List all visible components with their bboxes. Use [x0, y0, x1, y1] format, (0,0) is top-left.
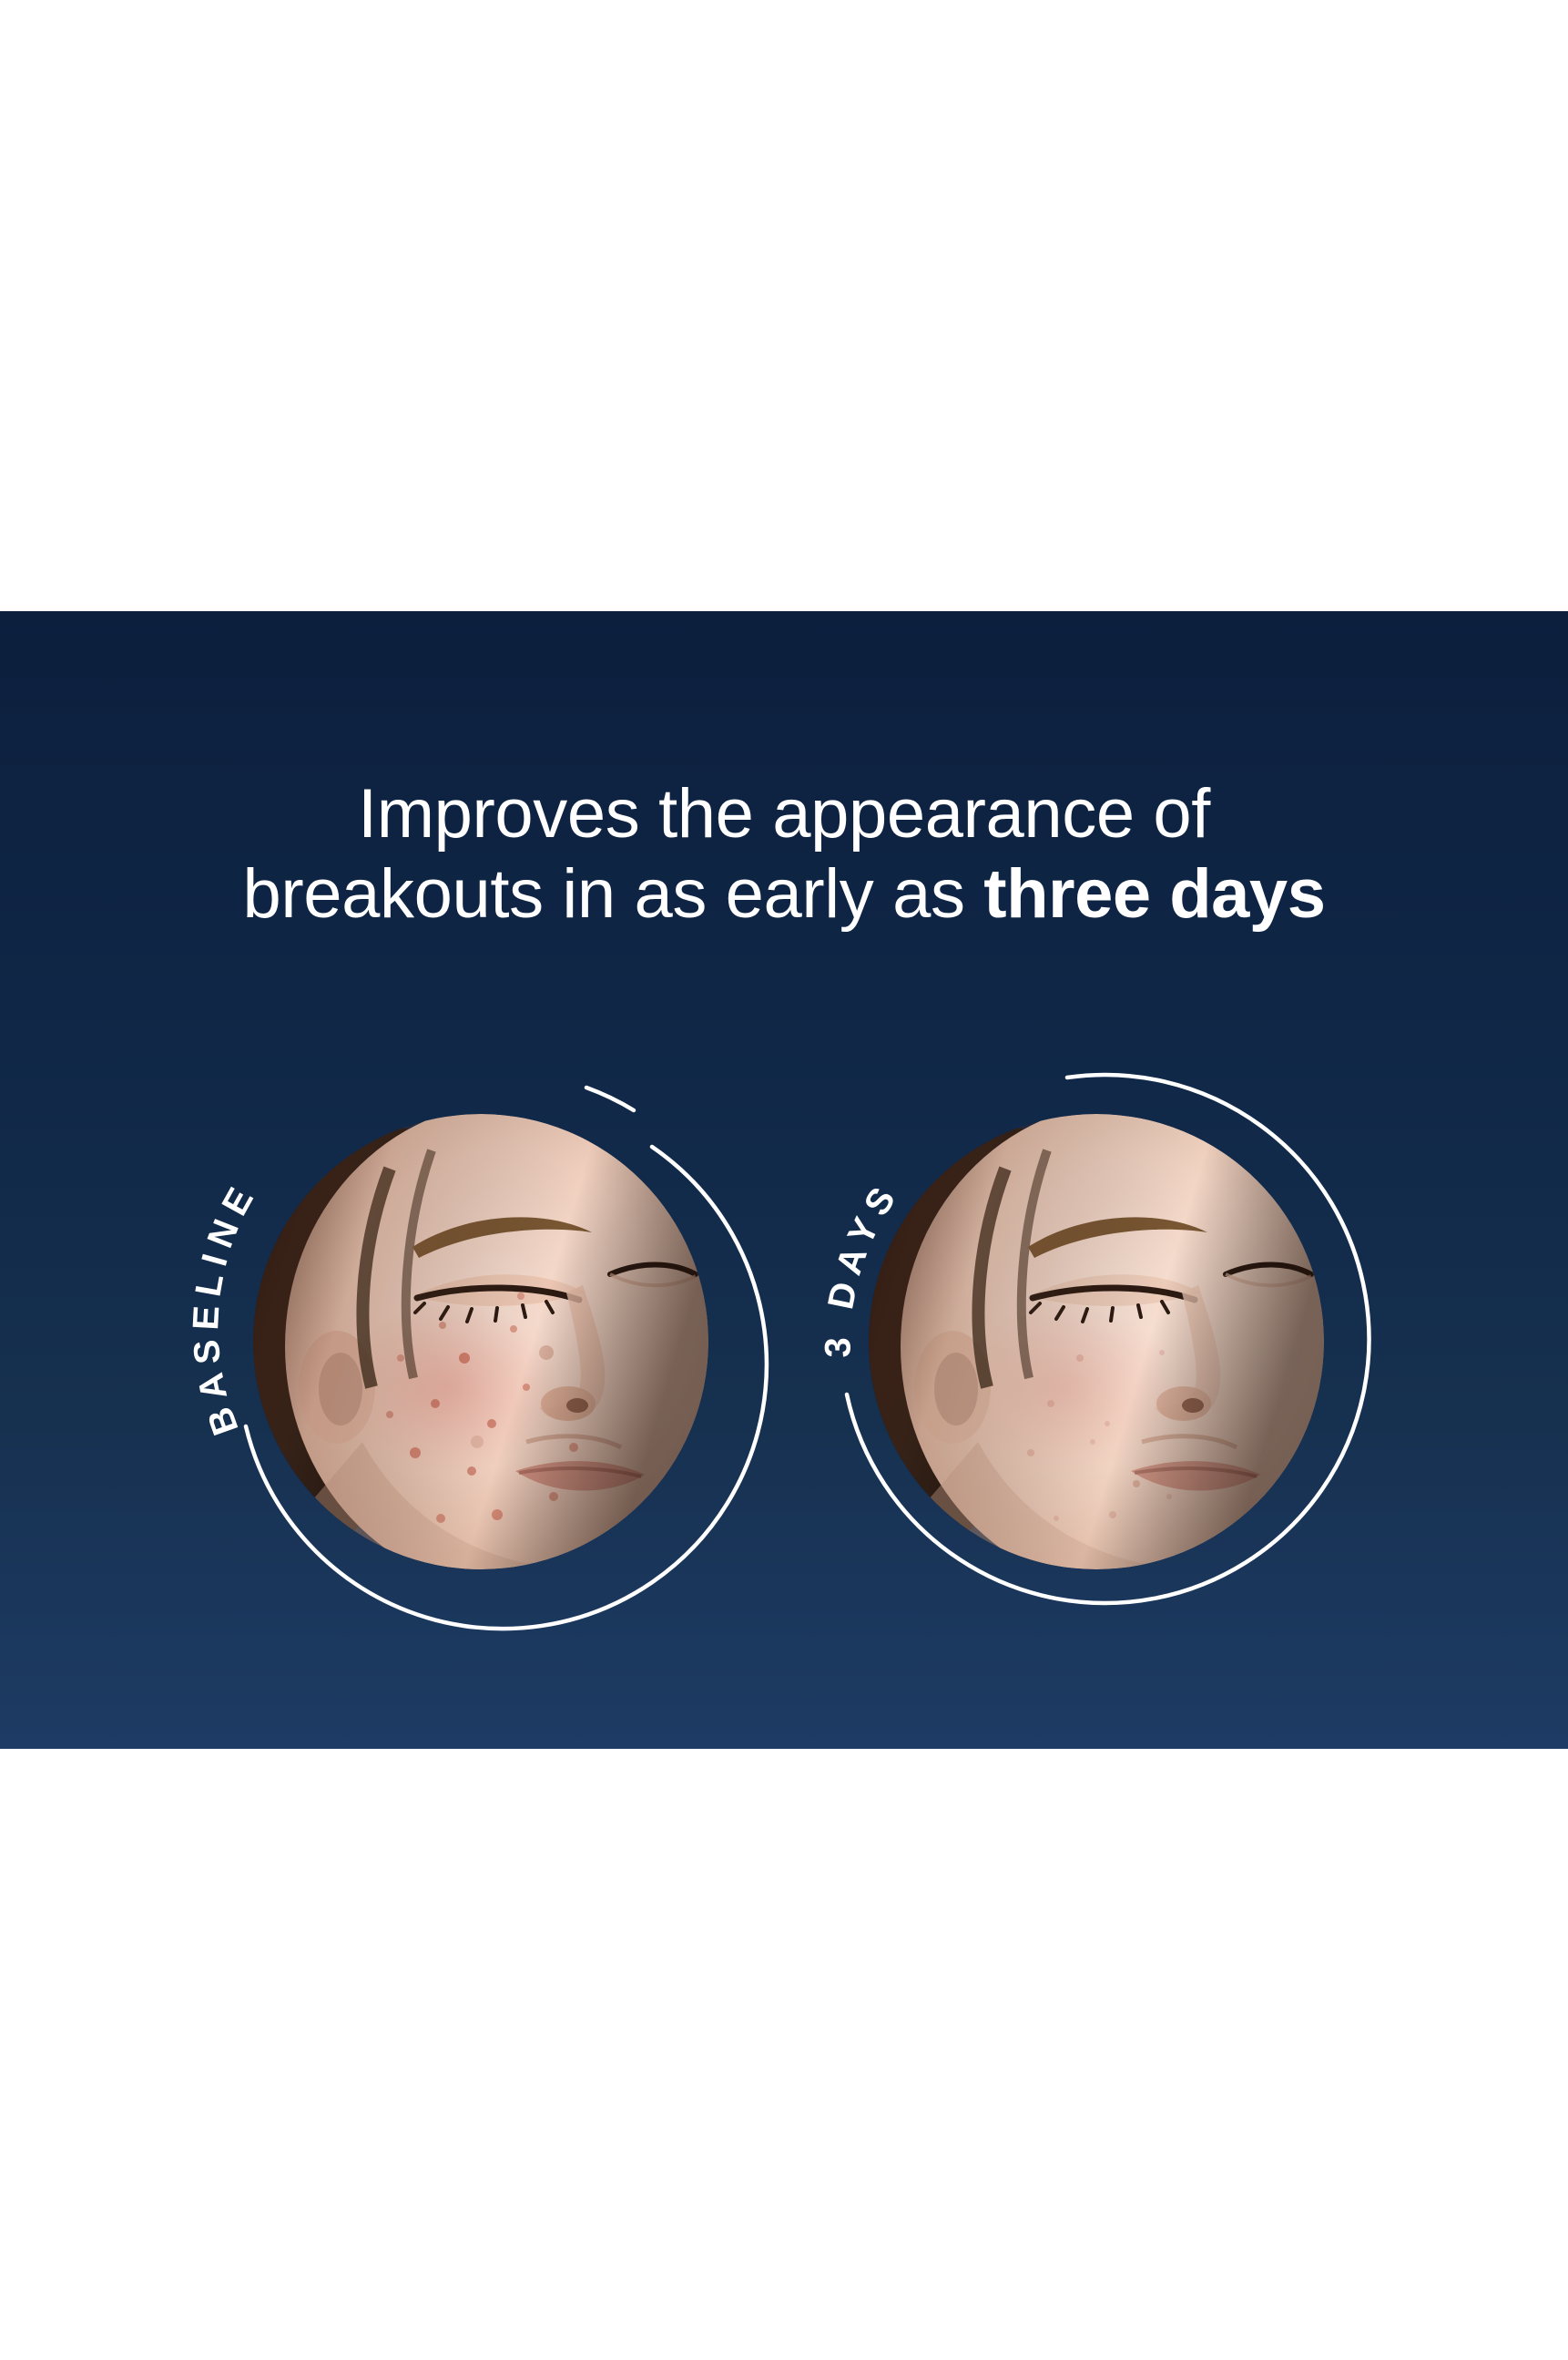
comparison-item-baseline: BASELINE	[178, 1039, 779, 1640]
three-days-photo-image	[869, 1114, 1324, 1569]
baseline-photo	[253, 1114, 708, 1569]
baseline-label: BASELINE	[186, 1174, 265, 1440]
three-days-photo	[869, 1114, 1324, 1569]
baseline-photo-image	[253, 1114, 708, 1569]
before-after-comparison: BASELINE	[0, 611, 1568, 1749]
comparison-item-three-days: 3 DAYS	[794, 1039, 1395, 1640]
baseline-ring-arc-tick	[586, 1088, 634, 1110]
promo-panel: Improves the appearance of breakouts in …	[0, 611, 1568, 1749]
